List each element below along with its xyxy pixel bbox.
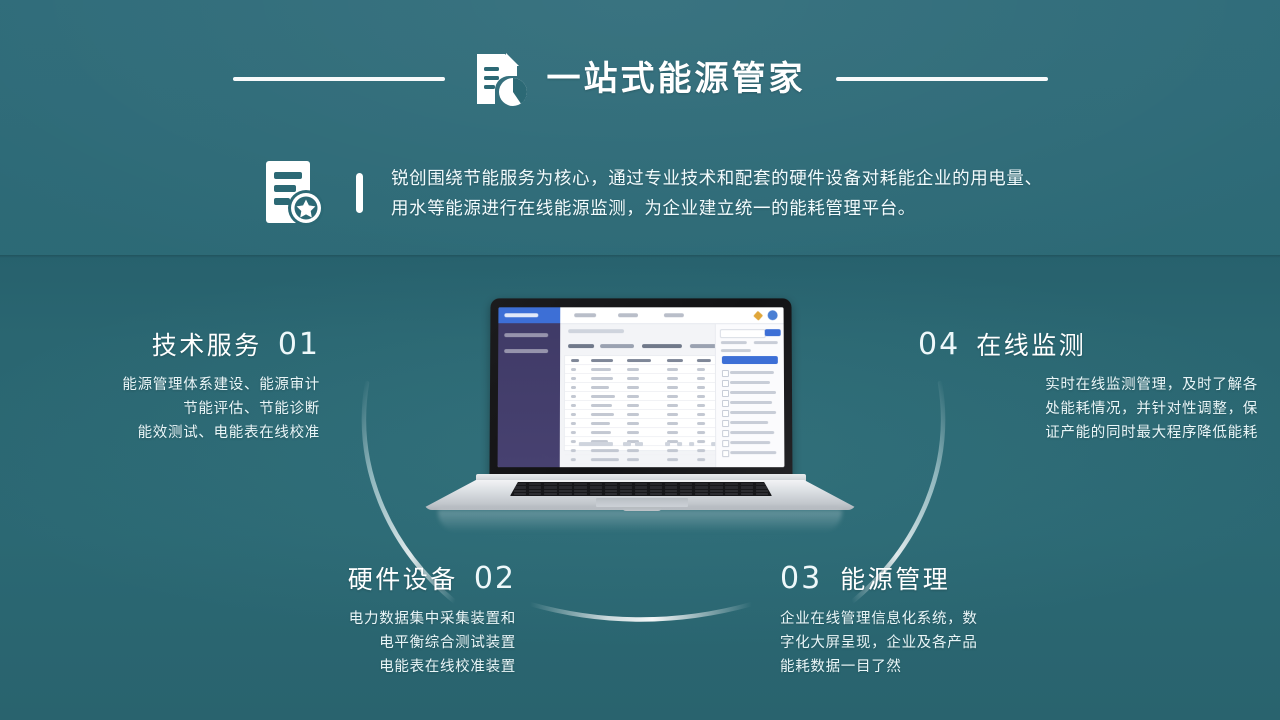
page-title: 一站式能源管家 [547,62,806,96]
feature-title: 在线监测 [976,334,1086,359]
slide-root: 一站式能源管家 锐创围绕节能服务为核心，通过专业技术和配套的硬件设备对耗能企业的… [0,0,1280,720]
feature-title: 能源管理 [840,568,950,593]
feature-body: 实时在线监测管理，及时了解各 处能耗情况，并针对性调整，保 证产能的同时最大程序… [918,373,1258,445]
laptop-trackpad [596,498,688,507]
table-row [565,374,715,383]
table-row [565,365,715,374]
table-row [565,383,715,392]
search-button[interactable] [765,329,781,336]
feature-block-01: 技术服务 01 能源管理体系建设、能源审计 节能评估、节能诊断 能效测试、电能表… [0,330,320,445]
feature-body: 电力数据集中采集装置和 电平衡综合测试装置 电能表在线校准装置 [180,607,516,679]
dashboard-table [564,355,716,451]
table-pagination[interactable] [565,440,715,448]
table-row [565,464,715,467]
feature-body: 能源管理体系建设、能源审计 节能评估、节能诊断 能效测试、电能表在线校准 [0,373,320,445]
feature-block-03: 03 能源管理 企业在线管理信息化系统，数 字化大屏呈现，企业及各产品 能耗数据… [780,564,1100,679]
table-row [565,428,715,437]
table-row [565,410,715,419]
header-rule-left [233,77,445,81]
table-row [565,392,715,401]
intro-description: 锐创围绕节能服务为核心，通过专业技术和配套的硬件设备对耗能企业的用电量、 用水等… [391,163,1043,223]
document-star-icon [262,158,328,228]
intro-divider [356,173,363,213]
intro-block: 锐创围绕节能服务为核心，通过专业技术和配套的硬件设备对耗能企业的用电量、 用水等… [262,158,1043,228]
dashboard-filter-row [568,340,712,352]
avatar [768,310,778,320]
feature-number: 04 [918,330,960,360]
dashboard-breadcrumb [568,329,624,333]
feature-number: 01 [278,330,320,360]
table-row [565,419,715,428]
laptop-keyboard [510,482,772,496]
dashboard-nav-item [504,333,548,337]
laptop-mockup [424,298,856,530]
feature-title: 硬件设备 [348,568,458,593]
feature-block-04: 04 在线监测 实时在线监测管理，及时了解各 处能耗情况，并针对性调整，保 证产… [918,330,1258,445]
table-row [565,401,715,410]
document-chart-icon [473,50,529,108]
feature-block-02: 硬件设备 02 电力数据集中采集装置和 电平衡综合测试装置 电能表在线校准装置 [180,564,516,679]
dashboard-sidebar [498,307,561,467]
table-header-row [565,356,715,365]
feature-body: 企业在线管理信息化系统，数 字化大屏呈现，企业及各产品 能耗数据一目了然 [780,607,1100,679]
edit-pen-icon [753,311,763,321]
slide-header: 一站式能源管家 [0,48,1280,110]
feature-number: 03 [780,564,822,594]
feature-number: 02 [474,564,516,594]
feature-title: 技术服务 [152,334,262,359]
header-rule-right [836,77,1048,81]
dashboard-brand-bar [498,307,560,323]
laptop-lid [489,298,792,480]
search-input[interactable] [720,329,766,338]
laptop-screen [498,307,785,467]
primary-action-button[interactable] [722,356,778,364]
dashboard-topbar [560,307,783,324]
laptop-reflection [438,510,842,532]
table-row [565,455,715,464]
dashboard-nav-item [504,349,548,353]
dashboard-right-panel [715,324,785,467]
